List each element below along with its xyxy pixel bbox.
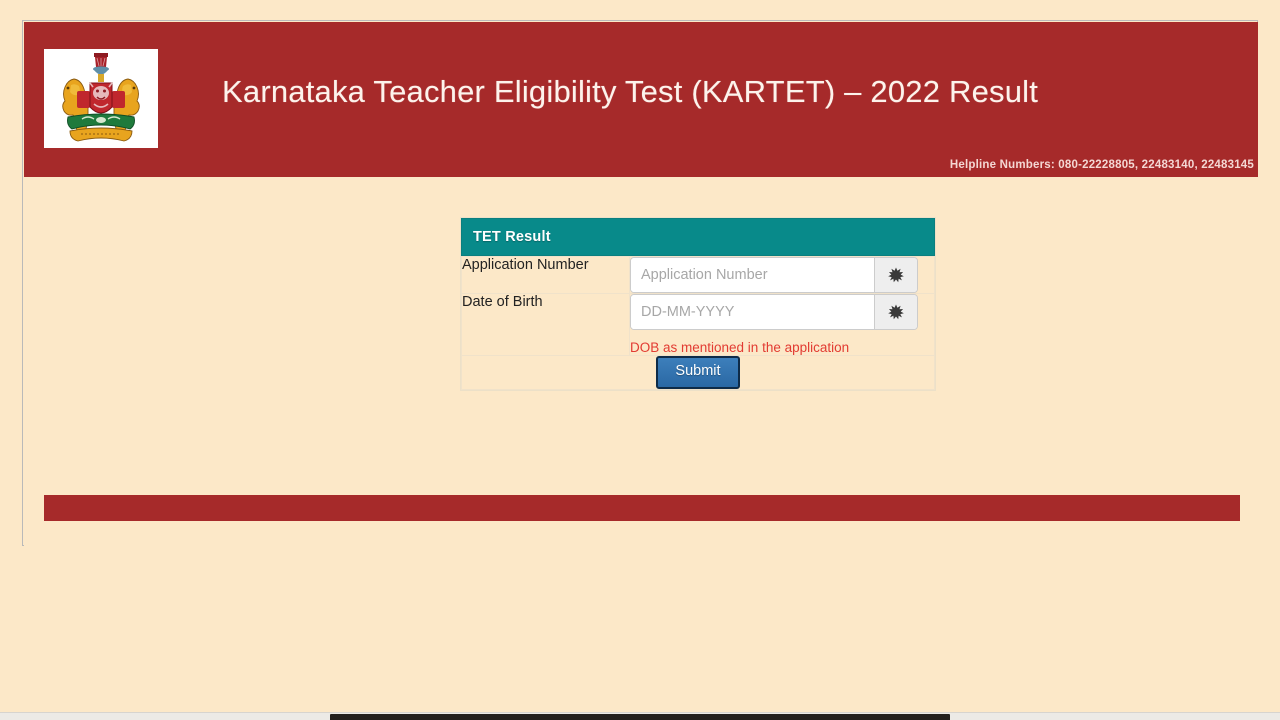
dob-field-cell: DOB as mentioned in the application bbox=[630, 294, 935, 356]
submit-cell: Submit bbox=[462, 356, 935, 390]
dob-hint-text: DOB as mentioned in the application bbox=[630, 340, 934, 355]
tet-result-panel: TET Result Application Number bbox=[460, 217, 936, 391]
application-number-field-cell bbox=[630, 257, 935, 294]
footer-bar bbox=[44, 495, 1240, 521]
application-number-input-group[interactable] bbox=[630, 257, 918, 293]
application-number-label: Application Number bbox=[462, 257, 589, 273]
horizontal-scrollbar-thumb[interactable] bbox=[330, 714, 950, 720]
table-row: Submit bbox=[462, 356, 935, 390]
dob-input[interactable] bbox=[631, 295, 874, 329]
page-root: Karnataka Teacher Eligibility Test (KART… bbox=[0, 0, 1280, 720]
panel-header: TET Result bbox=[461, 218, 935, 256]
application-number-required-addon bbox=[874, 258, 917, 292]
site-header: Karnataka Teacher Eligibility Test (KART… bbox=[24, 22, 1258, 177]
dob-label: Date of Birth bbox=[462, 294, 543, 310]
horizontal-scrollbar[interactable] bbox=[0, 712, 1280, 720]
karnataka-state-emblem bbox=[44, 49, 158, 148]
table-row: Application Number bbox=[462, 257, 935, 294]
asterisk-star-icon bbox=[887, 303, 905, 321]
page-body: TET Result Application Number bbox=[24, 177, 1258, 546]
content-frame: Karnataka Teacher Eligibility Test (KART… bbox=[22, 20, 1258, 546]
result-form-table: Application Number bbox=[461, 256, 935, 390]
table-row: Date of Birth bbox=[462, 294, 935, 356]
dob-required-addon bbox=[874, 295, 917, 329]
asterisk-star-icon bbox=[887, 266, 905, 284]
helpline-numbers: Helpline Numbers: 080-22228805, 22483140… bbox=[950, 159, 1254, 171]
submit-button[interactable]: Submit bbox=[656, 356, 739, 389]
panel-title: TET Result bbox=[473, 229, 551, 245]
page-title: Karnataka Teacher Eligibility Test (KART… bbox=[222, 74, 1038, 110]
dob-label-cell: Date of Birth bbox=[462, 294, 630, 356]
application-number-label-cell: Application Number bbox=[462, 257, 630, 294]
dob-input-group[interactable] bbox=[630, 294, 918, 330]
application-number-input[interactable] bbox=[631, 258, 874, 292]
